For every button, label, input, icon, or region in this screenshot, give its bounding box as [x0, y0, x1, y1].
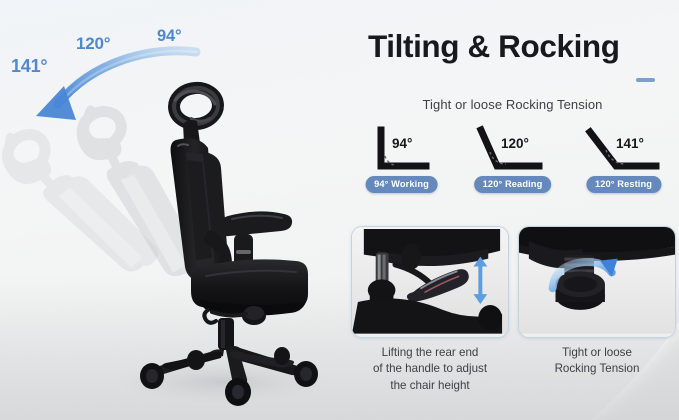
- angle-badge-working[interactable]: 94° Working: [365, 176, 438, 193]
- angle-icon-text: 120°: [501, 136, 529, 151]
- tension-knob-photo: [519, 227, 675, 334]
- angle-badge-reading[interactable]: 120° Reading: [474, 176, 552, 193]
- angle-icon-141: 141°: [586, 126, 662, 174]
- recline-label-120: 120°: [76, 34, 110, 54]
- caption-tension: Tight or loose Rocking Tension: [518, 345, 676, 394]
- inset-caption-row: Lifting the rear end of the handle to ad…: [351, 345, 676, 394]
- angle-icon-text: 141°: [616, 136, 644, 151]
- caption-line: Rocking Tension: [518, 361, 676, 377]
- caption-line: of the handle to adjust: [351, 361, 509, 377]
- height-lever-photo: [352, 227, 508, 334]
- caption-line: Tight or loose: [518, 345, 676, 361]
- inset-tension-knob[interactable]: [518, 226, 676, 338]
- angle-icon-94: 94°: [364, 126, 440, 174]
- inset-height-adjust-lever[interactable]: [351, 226, 509, 338]
- angle-icon-text: 94°: [392, 136, 412, 151]
- rocking-tension-knob: [556, 271, 605, 310]
- angle-preset-reading: 120° 120° Reading: [457, 126, 568, 202]
- recline-label-141: 141°: [11, 56, 47, 77]
- recline-label-94: 94°: [157, 27, 181, 46]
- caption-height-adjust: Lifting the rear end of the handle to ad…: [351, 345, 509, 394]
- page-title: Tilting & Rocking: [368, 28, 668, 65]
- angle-preset-resting: 141° 120° Resting: [568, 126, 679, 202]
- angle-preset-row: 94° 94° Working 120° 120° Reading 141°: [346, 126, 679, 202]
- angle-badge-resting[interactable]: 120° Resting: [586, 176, 661, 193]
- title-accent-dash: [636, 78, 655, 82]
- angle-preset-working: 94° 94° Working: [346, 126, 457, 202]
- chair-headrest: [172, 86, 220, 126]
- inset-panel-row: [351, 226, 676, 338]
- angle-icon-120: 120°: [475, 126, 551, 174]
- caster-wheel: [274, 347, 290, 365]
- caption-line: Lifting the rear end: [351, 345, 509, 361]
- caster-wheel: [187, 350, 205, 370]
- right-content-column: Tilting & Rocking Tight or loose Rocking…: [346, 0, 679, 420]
- chair-recline-illustration: [0, 0, 352, 420]
- page-subtitle: Tight or loose Rocking Tension: [346, 97, 679, 112]
- infographic-canvas: 141° 120° 94° Tilting & Rocking Tight or…: [0, 0, 679, 420]
- gas-cylinder: [218, 318, 234, 350]
- caption-line: the chair height: [351, 378, 509, 394]
